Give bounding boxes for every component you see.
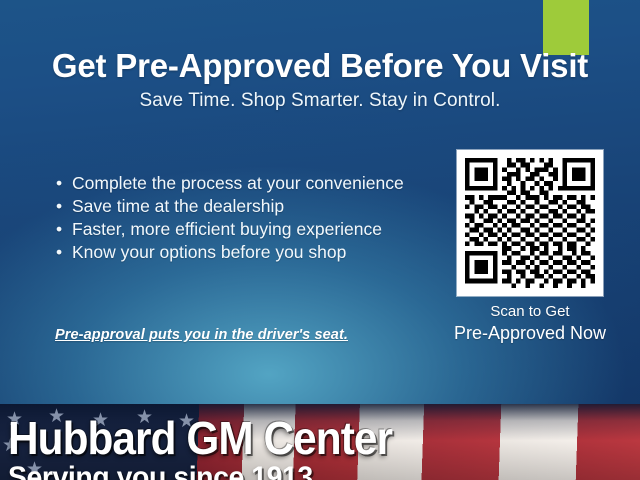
qr-caption-line2: Pre-Approved Now	[440, 322, 620, 345]
bullet-dot-icon: •	[56, 218, 62, 241]
page-title: Get Pre-Approved Before You Visit	[0, 48, 640, 84]
bullet-dot-icon: •	[56, 241, 62, 264]
dealership-name: Hubbard GM Center	[8, 415, 578, 461]
dealership-tagline: Serving you since 1913	[8, 463, 597, 480]
benefits-list: • Complete the process at your convenien…	[56, 172, 456, 264]
qr-caption: Scan to Get Pre-Approved Now	[440, 303, 620, 344]
page-subtitle: Save Time. Shop Smarter. Stay in Control…	[0, 90, 640, 112]
presentation-slide: Get Pre-Approved Before You Visit Save T…	[0, 0, 640, 480]
banner-text-block: Hubbard GM Center Serving you since 1913	[8, 415, 628, 480]
tagline-text: Pre-approval puts you in the driver's se…	[55, 327, 348, 343]
qr-code-image	[465, 158, 595, 288]
list-item: • Faster, more efficient buying experien…	[56, 218, 456, 241]
list-item-label: Know your options before you shop	[72, 242, 346, 262]
bullet-dot-icon: •	[56, 195, 62, 218]
bullet-dot-icon: •	[56, 172, 62, 195]
list-item-label: Faster, more efficient buying experience	[72, 219, 382, 239]
list-item: • Complete the process at your convenien…	[56, 172, 456, 195]
list-item: • Save time at the dealership	[56, 195, 456, 218]
qr-code[interactable]	[457, 150, 603, 296]
headline-block: Get Pre-Approved Before You Visit Save T…	[0, 48, 640, 112]
list-item: • Know your options before you shop	[56, 241, 456, 264]
list-item-label: Complete the process at your convenience	[72, 173, 404, 193]
list-item-label: Save time at the dealership	[72, 196, 284, 216]
dealership-banner: ★ ★ ★ ★ ★ ★ ★ Hubbard GM Center Serving …	[0, 404, 640, 480]
qr-caption-line1: Scan to Get	[440, 303, 620, 322]
